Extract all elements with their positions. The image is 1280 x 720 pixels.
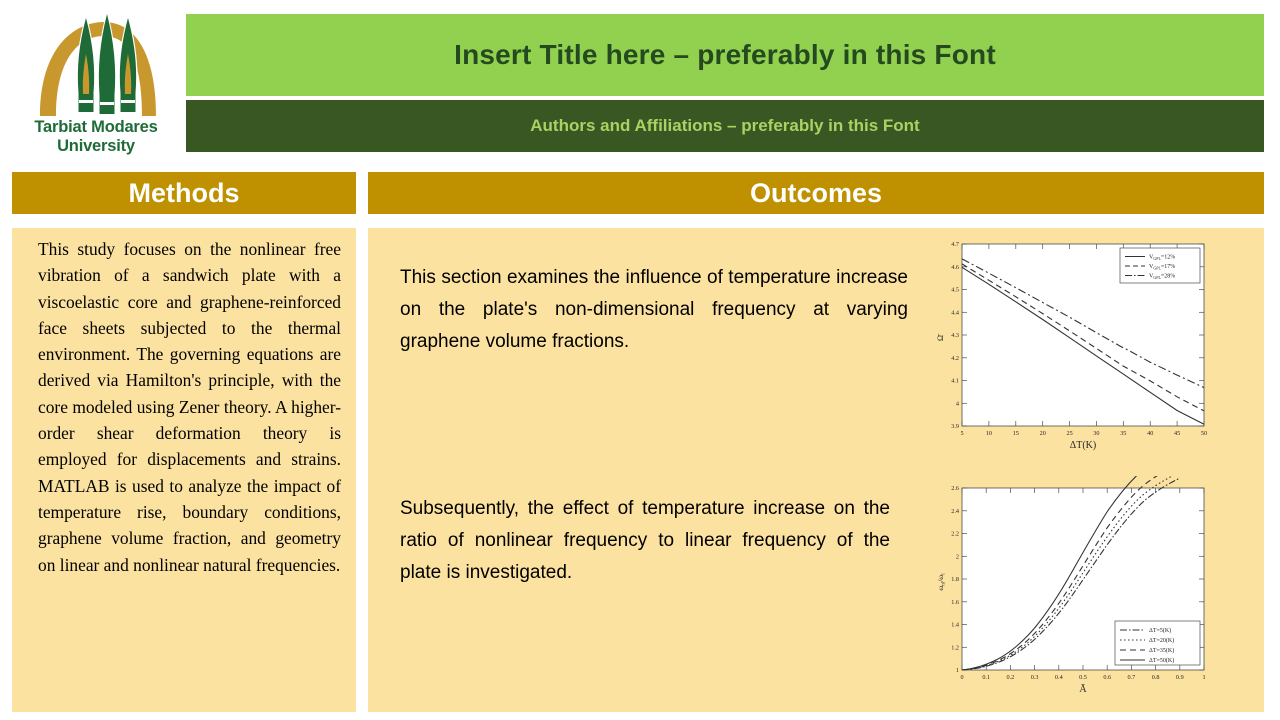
svg-text:4.2: 4.2 bbox=[951, 355, 959, 362]
svg-text:0.7: 0.7 bbox=[1128, 674, 1136, 681]
svg-text:5: 5 bbox=[960, 430, 963, 437]
poster-authors-banner: Authors and Affiliations – preferably in… bbox=[186, 100, 1264, 152]
figure-1-legend: VGPL=12% VGPL=17% VGPL=28% bbox=[1120, 248, 1200, 283]
svg-text:0.6: 0.6 bbox=[1103, 674, 1111, 681]
svg-text:4.7: 4.7 bbox=[951, 241, 959, 248]
svg-text:0.2: 0.2 bbox=[1007, 674, 1015, 681]
svg-text:40: 40 bbox=[1147, 430, 1153, 437]
svg-text:3.9: 3.9 bbox=[951, 423, 959, 430]
svg-text:0.1: 0.1 bbox=[982, 674, 990, 681]
svg-text:0.4: 0.4 bbox=[1055, 674, 1063, 681]
svg-text:ΔT=5(K): ΔT=5(K) bbox=[1149, 627, 1171, 634]
poster-title-banner: Insert Title here – preferably in this F… bbox=[186, 14, 1264, 96]
svg-text:10: 10 bbox=[986, 430, 992, 437]
svg-text:VGPL=17%: VGPL=17% bbox=[1149, 264, 1175, 271]
outcomes-panel: This section examines the influence of t… bbox=[368, 228, 1264, 712]
figure-2-xlabel: Ā bbox=[1079, 684, 1087, 695]
svg-text:0.9: 0.9 bbox=[1176, 674, 1184, 681]
svg-text:0.8: 0.8 bbox=[1152, 674, 1160, 681]
svg-text:20: 20 bbox=[1040, 430, 1046, 437]
svg-text:2.2: 2.2 bbox=[951, 531, 959, 538]
methods-panel: This study focuses on the nonlinear free… bbox=[12, 228, 356, 712]
logo-wordmark: Tarbiat Modares University bbox=[12, 118, 180, 156]
svg-text:1.6: 1.6 bbox=[951, 599, 959, 606]
svg-text:2.4: 2.4 bbox=[951, 508, 959, 515]
svg-text:1: 1 bbox=[956, 667, 959, 674]
logo-wordmark-line2: University bbox=[12, 137, 180, 156]
svg-text:45: 45 bbox=[1174, 430, 1180, 437]
svg-text:1: 1 bbox=[1202, 674, 1205, 681]
svg-text:15: 15 bbox=[1013, 430, 1019, 437]
svg-text:25: 25 bbox=[1067, 430, 1073, 437]
svg-text:1.2: 1.2 bbox=[951, 645, 959, 652]
svg-text:30: 30 bbox=[1093, 430, 1099, 437]
outcomes-paragraph-2: Subsequently, the effect of temperature … bbox=[400, 493, 890, 589]
svg-text:35: 35 bbox=[1120, 430, 1126, 437]
outcomes-section-header: Outcomes bbox=[368, 172, 1264, 214]
figure-2-legend: ΔT=5(K) ΔT=20(K) ΔT=35(K) ΔT=50(K) bbox=[1115, 621, 1200, 665]
figure-frequency-vs-temperature: 5 10 15 20 25 30 35 40 45 50 3.9 4 4.1 4… bbox=[932, 232, 1214, 466]
svg-text:2.6: 2.6 bbox=[951, 485, 959, 492]
svg-text:4: 4 bbox=[956, 401, 959, 408]
svg-text:1.4: 1.4 bbox=[951, 622, 959, 629]
tarbiat-modares-emblem-icon bbox=[12, 8, 180, 120]
svg-text:ΔT=50(K): ΔT=50(K) bbox=[1149, 657, 1174, 664]
svg-text:50: 50 bbox=[1201, 430, 1207, 437]
svg-text:ΔT=20(K): ΔT=20(K) bbox=[1149, 637, 1174, 644]
svg-text:VGPL=12%: VGPL=12% bbox=[1149, 255, 1175, 262]
methods-body-text: This study focuses on the nonlinear free… bbox=[38, 236, 341, 578]
figure-frequency-ratio-vs-amplitude: 0 0.1 0.2 0.3 0.4 0.5 0.6 0.7 0.8 0.9 1 … bbox=[932, 476, 1214, 710]
poster-title: Insert Title here – preferably in this F… bbox=[454, 39, 996, 71]
logo-wordmark-line1: Tarbiat Modares bbox=[34, 118, 157, 136]
svg-text:4.4: 4.4 bbox=[951, 310, 959, 317]
methods-section-header: Methods bbox=[12, 172, 356, 214]
svg-text:1.8: 1.8 bbox=[951, 576, 959, 583]
outcomes-heading-label: Outcomes bbox=[750, 178, 882, 209]
figure-1-xlabel: ΔT(K) bbox=[1070, 440, 1096, 451]
svg-text:2: 2 bbox=[956, 554, 959, 561]
poster-authors: Authors and Affiliations – preferably in… bbox=[530, 116, 919, 136]
svg-text:4.1: 4.1 bbox=[951, 378, 959, 385]
svg-text:0.5: 0.5 bbox=[1079, 674, 1087, 681]
outcomes-paragraph-1: This section examines the influence of t… bbox=[400, 262, 908, 358]
svg-text:VGPL=28%: VGPL=28% bbox=[1149, 274, 1175, 281]
methods-heading-label: Methods bbox=[129, 178, 240, 209]
svg-text:4.5: 4.5 bbox=[951, 287, 959, 294]
svg-text:ΔT=35(K): ΔT=35(K) bbox=[1149, 647, 1174, 654]
svg-text:0: 0 bbox=[960, 674, 963, 681]
svg-text:4.6: 4.6 bbox=[951, 264, 959, 271]
university-logo: Tarbiat Modares University bbox=[12, 8, 180, 160]
svg-text:0.3: 0.3 bbox=[1031, 674, 1039, 681]
figure-2-ylabel: ωnl/ωl bbox=[936, 573, 946, 591]
svg-text:4.3: 4.3 bbox=[951, 332, 959, 339]
